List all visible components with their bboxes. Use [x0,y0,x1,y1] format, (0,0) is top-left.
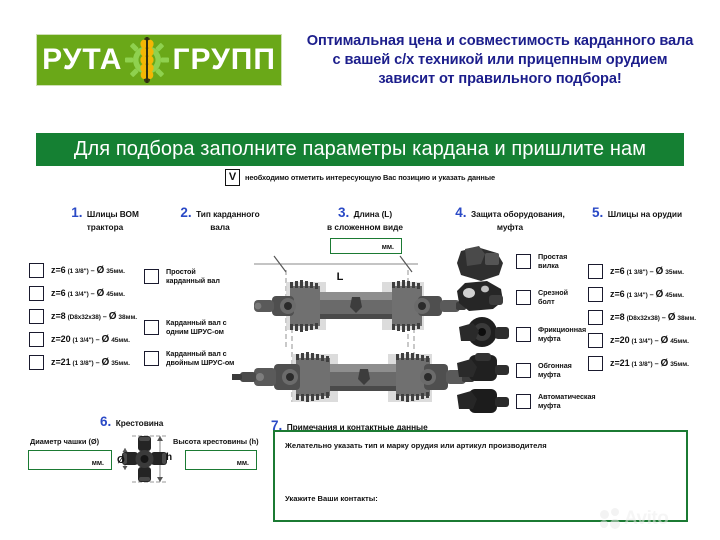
checkbox[interactable] [588,287,603,302]
cross-diameter-dim-label: Ø [117,455,125,466]
column-number-1: 1. [71,205,82,220]
option-label: Обгоннаямуфта [538,361,572,379]
checkbox[interactable] [516,254,531,269]
column-subtitle-4: муфта [435,222,585,232]
svg-text:L: L [337,271,344,283]
checkbox[interactable] [588,264,603,279]
checkbox[interactable] [29,286,44,301]
option-row[interactable]: z=20 (1 3/4") – Ø 45мм. [29,332,137,347]
option-label: z=6 (1 3/8") – Ø 35мм. [51,265,125,276]
option-label: Фрикционнаямуфта [538,325,586,343]
checkbox[interactable] [588,310,603,325]
option-row[interactable]: z=21 (1 3/8") – Ø 35мм. [29,355,137,370]
column-heading-5: 5. Шлицы на орудии [592,204,712,222]
option-row[interactable]: z=6 (1 3/4") – Ø 45мм. [588,287,696,302]
option-row[interactable]: z=8 (D8x32x38) – Ø 38мм. [588,310,696,325]
column-title-3: Длина (L) [354,209,392,219]
protection-option-4[interactable]: Обгоннаямуфта [516,361,572,379]
logo-text-left: РУТА [42,45,122,75]
option-label: z=20 (1 3/4") – Ø 45мм. [610,335,689,346]
checkbox[interactable] [588,333,603,348]
header-line-1: Оптимальная цена и совместимость карданн… [286,32,714,51]
cup-diameter-input[interactable]: мм. [28,450,112,470]
protection-option-5[interactable]: Автоматическаямуфта [516,392,596,410]
instruction-banner: Для подбора заполните параметры кардана … [36,133,684,166]
spline-pto-options: z=6 (1 3/8") – Ø 35мм. z=6 (1 3/4") – Ø … [29,263,137,370]
option-row[interactable]: z=20 (1 3/4") – Ø 45мм. [588,333,696,348]
checkbox[interactable] [588,356,603,371]
shaft-type-option-1[interactable]: Простой карданный вал [144,267,220,285]
cup-diameter-label: Диаметр чашки (Ø) [30,437,99,446]
option-label: Карданный вал с двойным ШРУС-ом [166,349,234,367]
column-title-2: Тип карданного [196,209,259,219]
column-title-5: Шлицы на орудии [608,209,682,219]
spline-implement-options: z=6 (1 3/8") – Ø 35мм. z=6 (1 3/4") – Ø … [588,264,696,371]
cross-height-input[interactable]: мм. [185,450,257,470]
checkbox[interactable] [144,320,159,335]
column-number-4: 4. [455,205,466,220]
column-subtitle-2: вала [155,222,285,232]
column-heading-3: 3. Длина (L) в сложенном виде [300,204,430,232]
avito-wordmark: Avito [624,509,668,528]
section-6-heading: 6. Крестовина [100,413,163,431]
checkbox[interactable] [144,269,159,284]
coupling-parts-illustration [455,243,513,413]
checkbox[interactable] [516,327,531,342]
option-label: z=6 (1 3/4") – Ø 45мм. [610,289,684,300]
option-label: Простаявилка [538,252,567,270]
column-title-1: Шлицы ВОМ [87,209,139,219]
checkbox[interactable] [516,394,531,409]
column-number-5: 5. [592,205,603,220]
column-heading-4: 4. Защита оборудования, муфта [435,204,585,232]
protection-option-3[interactable]: Фрикционнаямуфта [516,325,586,343]
option-label: z=8 (D8x32x38) – Ø 38мм. [610,312,696,323]
column-heading-2: 2. Тип карданного вала [155,204,285,232]
shaft-type-option-2[interactable]: Карданный вал с одним ШРУС-ом [144,318,227,336]
flyer-page: РУТА [0,0,720,540]
option-row[interactable]: z=6 (1 3/8") – Ø 35мм. [588,264,696,279]
notes-hint: Желательно указать тип и марку орудия ил… [285,441,547,450]
option-row[interactable]: z=8 (D8x32x38) – Ø 38мм. [29,309,137,324]
column-title-4: Защита оборудования, [471,209,565,219]
option-label: z=8 (D8x32x38) – Ø 38мм. [51,311,137,322]
option-row[interactable]: z=6 (1 3/8") – Ø 35мм. [29,263,137,278]
checkbox-legend-text: необходимо отметить интересующую Вас поз… [245,173,495,182]
column-subtitle-3: в сложенном виде [300,222,430,232]
banner-text: Для подбора заполните параметры кардана … [74,138,646,161]
option-label: Карданный вал с одним ШРУС-ом [166,318,227,336]
option-label: Срезнойболт [538,288,568,306]
option-label: z=21 (1 3/8") – Ø 35мм. [51,357,130,368]
checkbox[interactable] [29,332,44,347]
column-number-2: 2. [180,205,191,220]
checkmark-icon: V [225,169,240,186]
checkbox[interactable] [29,309,44,324]
cross-height-label: Высота крестовины (h) [173,437,259,446]
checkbox-legend: V необходимо отметить интересующую Вас п… [0,169,720,186]
checkbox[interactable] [144,351,159,366]
avito-watermark: Avito [600,508,668,529]
option-label: z=6 (1 3/4") – Ø 45мм. [51,288,125,299]
option-label: z=21 (1 3/8") – Ø 35мм. [610,358,689,369]
section-number-6: 6. [100,414,111,429]
protection-option-2[interactable]: Срезнойболт [516,288,568,306]
section-title-6: Крестовина [116,418,164,428]
header-tagline: Оптимальная цена и совместимость карданн… [286,32,714,89]
option-label: Простой карданный вал [166,267,220,285]
gear-wheat-icon [124,37,170,83]
company-logo: РУТА [36,34,282,86]
checkbox[interactable] [516,290,531,305]
option-label: z=6 (1 3/8") – Ø 35мм. [610,266,684,277]
checkbox[interactable] [516,363,531,378]
cup-diameter-unit: мм. [92,460,111,469]
column-number-3: 3. [338,205,349,220]
column-subtitle-1: трактора [40,222,170,232]
shaft-type-option-3[interactable]: Карданный вал с двойным ШРУС-ом [144,349,234,367]
checkbox[interactable] [29,263,44,278]
option-label: Автоматическаямуфта [538,392,596,410]
cross-height-dim-label: h [166,452,172,463]
option-row[interactable]: z=21 (1 3/8") – Ø 35мм. [588,356,696,371]
avito-dots-icon [600,508,621,529]
contacts-prompt: Укажите Ваши контакты: [285,494,378,503]
protection-option-1[interactable]: Простаявилка [516,252,567,270]
cross-height-unit: мм. [237,460,256,469]
header-line-2: с вашей с/х техникой или прицепным оруди… [286,51,714,70]
option-label: z=20 (1 3/4") – Ø 45мм. [51,334,130,345]
option-row[interactable]: z=6 (1 3/4") – Ø 45мм. [29,286,137,301]
logo-text-right: ГРУПП [172,45,275,75]
checkbox[interactable] [29,355,44,370]
column-heading-1: 1. Шлицы ВОМ трактора [40,204,170,232]
header-line-3: зависит от правильного подбора! [286,70,714,89]
